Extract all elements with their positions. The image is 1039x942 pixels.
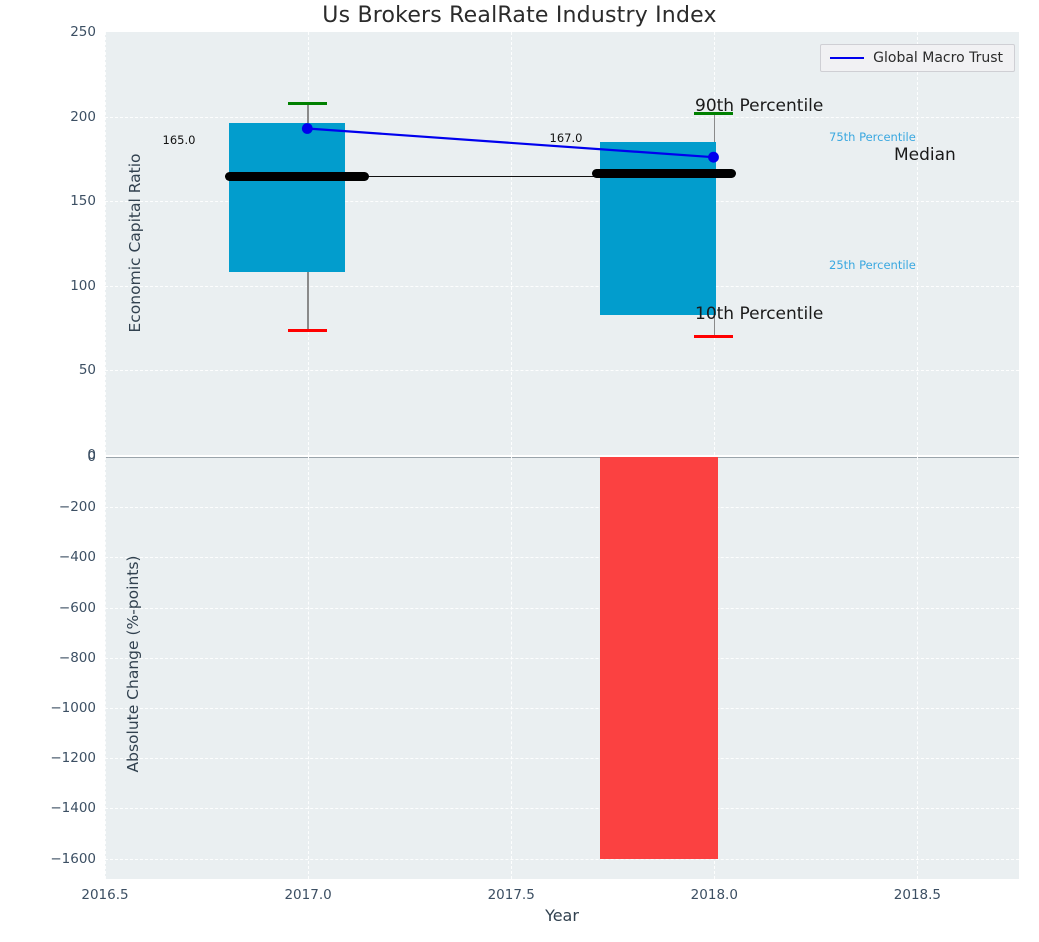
gridline-h-50 (105, 370, 1019, 371)
annotation-25th-percentile: 25th Percentile (829, 258, 916, 272)
x-axis-label: Year (105, 906, 1019, 925)
box-2018 (600, 142, 716, 315)
whisker-cap-high-2017 (288, 102, 327, 105)
gridline-h-200 (105, 117, 1019, 118)
value-label-2018: 167.0 (550, 131, 583, 145)
y-axis-label-bottom: Absolute Change (%-points) (124, 454, 142, 874)
gridline-h-neg1600 (105, 859, 1019, 860)
ytick-200: 200 (70, 109, 96, 125)
gridline-h-neg1400 (105, 808, 1019, 809)
gridline-v-2018-5 (917, 32, 918, 455)
xtick-2018-5: 2018.5 (894, 887, 941, 903)
annotation-75th-percentile: 75th Percentile (829, 130, 916, 144)
box-2017 (229, 123, 345, 272)
bar-absolute-change-2018 (600, 457, 718, 859)
legend-line-icon (830, 57, 864, 59)
y-axis-label-top: Economic Capital Ratio (126, 43, 144, 443)
value-label-2017: 165.0 (163, 133, 196, 147)
ytick-150: 150 (70, 193, 96, 209)
gridline-h-neg1000 (105, 708, 1019, 709)
median-bar-2018 (592, 169, 736, 178)
xtick-2017-0: 2017.0 (284, 887, 331, 903)
gridline-h-neg800 (105, 658, 1019, 659)
ytick-b-200: −200 (59, 499, 96, 515)
gridline-v-b-2017-0 (308, 457, 309, 879)
zero-line (105, 457, 1019, 458)
panel-economic-capital-ratio: 165.0 167.0 90th Percentile 75th Percent… (105, 32, 1019, 455)
whisker-cap-low-2017 (288, 329, 327, 332)
gridline-v-2016-5 (105, 32, 106, 455)
legend-label-global-macro-trust: Global Macro Trust (873, 50, 1003, 66)
ytick-b-1400: −1400 (50, 800, 96, 816)
gridline-h-neg400 (105, 557, 1019, 558)
gridline-v-b-2018-5 (917, 457, 918, 879)
page-title: Us Brokers RealRate Industry Index (0, 3, 1039, 28)
gridline-h-neg200 (105, 507, 1019, 508)
panel-bottom-inner (105, 457, 1019, 879)
whisker-cap-low-2018 (694, 335, 733, 338)
ytick-b-1000: −1000 (50, 700, 96, 716)
ytick-b-400: −400 (59, 549, 96, 565)
median-bar-2017 (225, 172, 369, 181)
gridline-h-neg600 (105, 608, 1019, 609)
chart-figure: Us Brokers RealRate Industry Index (0, 0, 1039, 942)
ytick-b-0: 0 (87, 449, 96, 465)
ytick-b-1200: −1200 (50, 750, 96, 766)
gridline-v-b-2016-5 (105, 457, 106, 879)
ytick-50: 50 (79, 362, 96, 378)
ytick-b-600: −600 (59, 600, 96, 616)
xtick-2017-5: 2017.5 (488, 887, 535, 903)
gridline-h-neg1200 (105, 758, 1019, 759)
gridline-v-2017-5 (511, 32, 512, 455)
ytick-b-800: −800 (59, 650, 96, 666)
gridline-v-b-2017-5 (511, 457, 512, 879)
ytick-b-1600: −1600 (50, 851, 96, 867)
ytick-250: 250 (70, 24, 96, 40)
panel-top-inner: 165.0 167.0 90th Percentile 75th Percent… (105, 32, 1019, 455)
xtick-2018-0: 2018.0 (691, 887, 738, 903)
gridline-h-100 (105, 286, 1019, 287)
annotation-median: Median (894, 145, 956, 165)
legend[interactable]: Global Macro Trust (820, 44, 1015, 72)
annotation-90th-percentile: 90th Percentile (695, 96, 823, 116)
annotation-10th-percentile: 10th Percentile (695, 304, 823, 324)
ytick-100: 100 (70, 278, 96, 294)
xtick-2016-5: 2016.5 (81, 887, 128, 903)
panel-absolute-change: 0 −200 −400 −600 −800 −1000 −1200 −1400 … (105, 457, 1019, 879)
